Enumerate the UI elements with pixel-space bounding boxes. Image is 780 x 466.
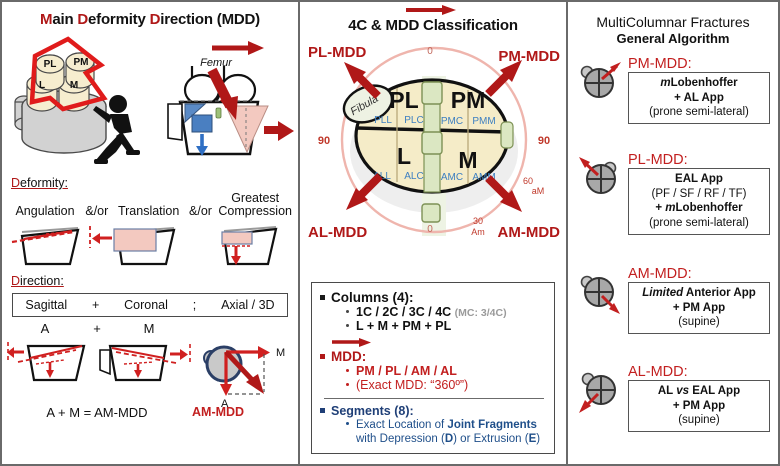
femur-label: Femur: [200, 57, 233, 69]
algo-head-al-mdd: AL-MDD:: [628, 364, 770, 380]
plateau-icon-am-mdd: [576, 268, 626, 318]
plane-axial3d: Axial / 3D: [221, 298, 275, 312]
figure-root: Main Deformity Direction (MDD): [0, 0, 780, 466]
algo-line: Limited Anterior App: [633, 286, 765, 301]
dial-tick-60: 60: [523, 176, 533, 186]
algo-box-al-mdd: AL vs EAL App + PM App (supine): [628, 380, 770, 432]
dial-tick-30: 30: [473, 216, 483, 226]
left-art-svg: PL PM L M: [2, 32, 302, 172]
algo-line: (supine): [633, 413, 765, 428]
label-pl-mdd: PL-MDD: [308, 44, 366, 61]
legend-columns-item-2: L + M + PM + PL: [346, 319, 548, 333]
algo-line: + AL App: [633, 91, 765, 106]
mid-panel-title: 4C & MDD Classification: [300, 17, 566, 34]
legend-mdd-item-2: (Exact MDD: “360º”): [346, 378, 548, 392]
algo-line: (prone semi-lateral): [633, 105, 765, 120]
deformity-label-translation: Translation: [115, 205, 183, 218]
dial-tick-aM: aM: [532, 186, 545, 196]
deformity-label-andor-1: &/or: [79, 205, 115, 218]
algo-line: (PF / SF / RF / TF): [633, 187, 765, 202]
label-am-mdd: AM-MDD: [498, 224, 560, 241]
quadrant-label-pm: PM: [451, 87, 486, 113]
axis-letters-row: A + M: [14, 321, 290, 336]
vector-result-label: AM-MDD: [192, 405, 244, 419]
bullet-dot: [346, 383, 349, 386]
title-arrow-icon: [404, 4, 464, 16]
right-panel-title-line2: General Algorithm: [568, 31, 778, 46]
coronal-m-diagram: [100, 344, 190, 380]
legend-mdd-title: MDD:: [320, 349, 548, 364]
direction-heading-rest: irection:: [20, 274, 64, 288]
mdd-arrow-icon: [331, 337, 377, 348]
panel-multicolumnar-fractures: MultiColumnar Fractures General Algorith…: [568, 0, 780, 466]
algo-line: + mLobenhoffer: [633, 201, 765, 216]
quadrant-label-m: M: [458, 147, 477, 173]
bullet-dot: [346, 422, 349, 425]
direction-heading: Direction:: [11, 274, 298, 288]
segment-label-pmm: PMM: [472, 116, 495, 127]
classification-legend-box: Columns (4): 1C / 2C / 3C / 4C (MC: 3/4C…: [311, 282, 555, 454]
algo-box-am-mdd: Limited Anterior App + PM App (supine): [628, 282, 770, 334]
segment-label-plc: PLC: [404, 115, 423, 126]
deformity-heading: Deformity:: [11, 176, 298, 190]
vector-label-m: M: [276, 347, 285, 359]
segment-label-pll: PLL: [374, 115, 392, 126]
segment-label-alc: ALC: [404, 171, 423, 182]
axial-vector-diagram: M A: [204, 346, 285, 410]
panel-main-deformity-direction: Main Deformity Direction (MDD): [0, 0, 300, 466]
mdd-dial-diagram: Fibula PL PM L M PLL PLC PMC PMM ALL: [300, 36, 568, 236]
femur-plateau-icon: Femur: [168, 41, 294, 156]
label-al-mdd: AL-MDD: [308, 224, 367, 241]
direction-heading-initial: D: [11, 274, 20, 288]
algo-line: + PM App: [633, 301, 765, 316]
algo-line: (supine): [633, 315, 765, 330]
right-panel-title-line1: MultiColumnar Fractures: [568, 14, 778, 30]
angulation-diagram: [12, 228, 78, 264]
deformity-label-andor-2: &/or: [183, 205, 219, 218]
algo-item-am-mdd: AM-MDD: Limited Anterior App + PM App (s…: [576, 266, 770, 362]
dial-tick-left: 90: [318, 135, 330, 147]
direction-diagrams: M A: [6, 336, 302, 410]
cyl-label-pl: PL: [44, 59, 57, 70]
bullet-square-red: [320, 354, 325, 359]
algo-box-pm-mdd: mLobenhoffer + AL App (prone semi-latera…: [628, 72, 770, 124]
arrow-pm-mdd-icon: [488, 60, 522, 94]
compression-diagram: [222, 227, 276, 265]
dial-tick-top: 0: [427, 46, 433, 57]
legend-mdd-item-1: PM / PL / AM / AL: [346, 364, 548, 378]
algo-box-pl-mdd: EAL App (PF / SF / RF / TF) + mLobenhoff…: [628, 168, 770, 235]
algo-item-pm-mdd: PM-MDD: mLobenhoffer + AL App (prone sem…: [576, 56, 770, 152]
bullet-dot: [346, 310, 349, 313]
dial-tick-bottom: 0: [427, 224, 433, 235]
am-equation: A + M = AM-MDD: [2, 405, 192, 420]
legend-segments-line-2: with Depression (D) or Extrusion (E): [356, 432, 548, 446]
segment-label-pmc: PMC: [441, 116, 463, 127]
deformity-label-angulation: Angulation: [11, 205, 79, 218]
algo-head-pl-mdd: PL-MDD:: [628, 152, 770, 168]
legend-columns-title: Columns (4):: [320, 290, 548, 305]
deformity-labels-row: Angulation &/or Translation &/or Greates…: [11, 192, 292, 218]
translation-diagram: [90, 226, 174, 264]
deformity-heading-rest: eformity:: [20, 176, 68, 190]
algo-line: EAL App: [633, 172, 765, 187]
bullet-square-blue: [320, 408, 325, 413]
bullet-dot: [346, 369, 349, 372]
axis-label-m: M: [118, 321, 180, 336]
legend-segments-title: Segments (8):: [320, 404, 548, 418]
segment-label-amc: AMC: [441, 172, 463, 183]
quadrant-label-l: L: [397, 143, 411, 169]
deformity-label-greatest-compression: Greatest Compression: [218, 192, 292, 218]
label-pm-mdd: PM-MDD: [498, 48, 560, 65]
left-panel-title: Main Deformity Direction (MDD): [2, 11, 298, 28]
axis-label-a: A: [14, 321, 76, 336]
algo-head-am-mdd: AM-MDD:: [628, 266, 770, 282]
algo-line: mLobenhoffer: [633, 76, 765, 91]
cyl-label-pm: PM: [74, 57, 89, 68]
plateau-icon-pm-mdd: [576, 58, 626, 108]
legend-columns-note: (MC: 3/4C): [455, 307, 507, 319]
bullet-dot: [346, 324, 349, 327]
plane-semicolon: ;: [193, 298, 196, 312]
bullet-square-black: [320, 295, 325, 300]
plateau-icon-pl-mdd: [576, 154, 626, 204]
legend-segments-line-1: Exact Location of Joint Fragments: [346, 418, 548, 432]
cyl-label-l: L: [39, 80, 45, 91]
deformity-heading-initial: D: [11, 176, 20, 190]
plane-plus: +: [92, 298, 99, 312]
panel-4c-mdd-classification: 4C & MDD Classification Fibula: [300, 0, 568, 466]
direction-planes-box: Sagittal + Coronal ; Axial / 3D: [12, 293, 288, 317]
dial-tick-Am: Am: [471, 227, 485, 237]
deformity-diagrams: [8, 220, 304, 268]
left-illustrations: PL PM L M: [2, 32, 298, 172]
algo-item-al-mdd: AL-MDD: AL vs EAL App + PM App (supine): [576, 364, 770, 460]
algo-line: AL vs EAL App: [633, 384, 765, 399]
sagittal-a-diagram: [7, 342, 84, 380]
plane-coronal: Coronal: [124, 298, 168, 312]
dial-tick-right: 90: [538, 135, 550, 147]
plateau-icon-al-mdd: [576, 366, 626, 416]
algo-item-pl-mdd: PL-MDD: EAL App (PF / SF / RF / TF) + mL…: [576, 152, 770, 264]
legend-divider: [324, 398, 544, 399]
plane-sagittal: Sagittal: [25, 298, 67, 312]
axis-label-plus: +: [76, 321, 118, 336]
legend-columns-item-1: 1C / 2C / 3C / 4C (MC: 3/4C): [346, 305, 548, 319]
algo-line: (prone semi-lateral): [633, 216, 765, 231]
cyl-label-m: M: [70, 80, 78, 91]
algo-line: + PM App: [633, 399, 765, 414]
algo-head-pm-mdd: PM-MDD:: [628, 56, 770, 72]
quadrant-label-pl: PL: [389, 87, 418, 113]
